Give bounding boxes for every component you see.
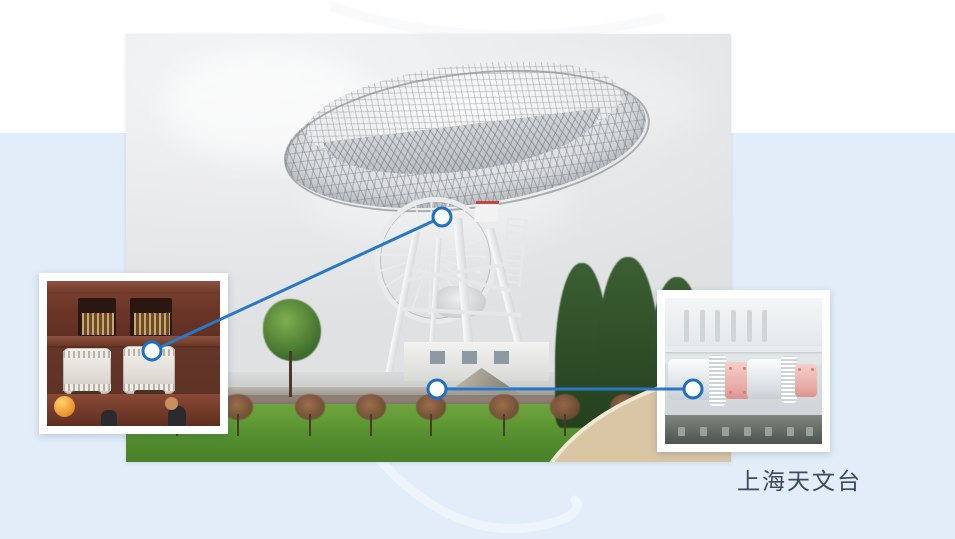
top-plate <box>47 281 220 294</box>
slide-canvas: 上海天文台 <box>0 0 955 539</box>
inset-photo-left <box>39 273 228 434</box>
tree-trunk <box>289 351 292 397</box>
drive-cylinder <box>63 348 111 394</box>
housing-ledge <box>665 346 822 352</box>
sapling <box>356 394 386 436</box>
inset-right-image <box>665 298 822 444</box>
sapling <box>295 394 325 436</box>
building-window <box>430 351 445 364</box>
inset-left-image <box>47 281 220 426</box>
mid-plate <box>47 336 220 346</box>
tree-crown <box>263 299 321 361</box>
pink-end-cap <box>725 362 750 399</box>
pink-end-cap <box>795 364 817 398</box>
drive-cylinder <box>123 346 175 394</box>
equipment-cabin <box>474 201 499 222</box>
deciduous-tree <box>259 299 325 395</box>
gear-teeth <box>134 313 170 335</box>
worker-hand <box>165 397 178 410</box>
inset-photo-right <box>657 290 830 452</box>
worker-silhouette <box>101 410 117 426</box>
building-window <box>462 351 477 364</box>
sapling <box>416 394 446 436</box>
coupling-flange <box>709 355 726 406</box>
antenna-dish <box>271 64 658 218</box>
gear-teeth <box>82 313 115 335</box>
page-title: 上海天文台 <box>737 468 862 496</box>
